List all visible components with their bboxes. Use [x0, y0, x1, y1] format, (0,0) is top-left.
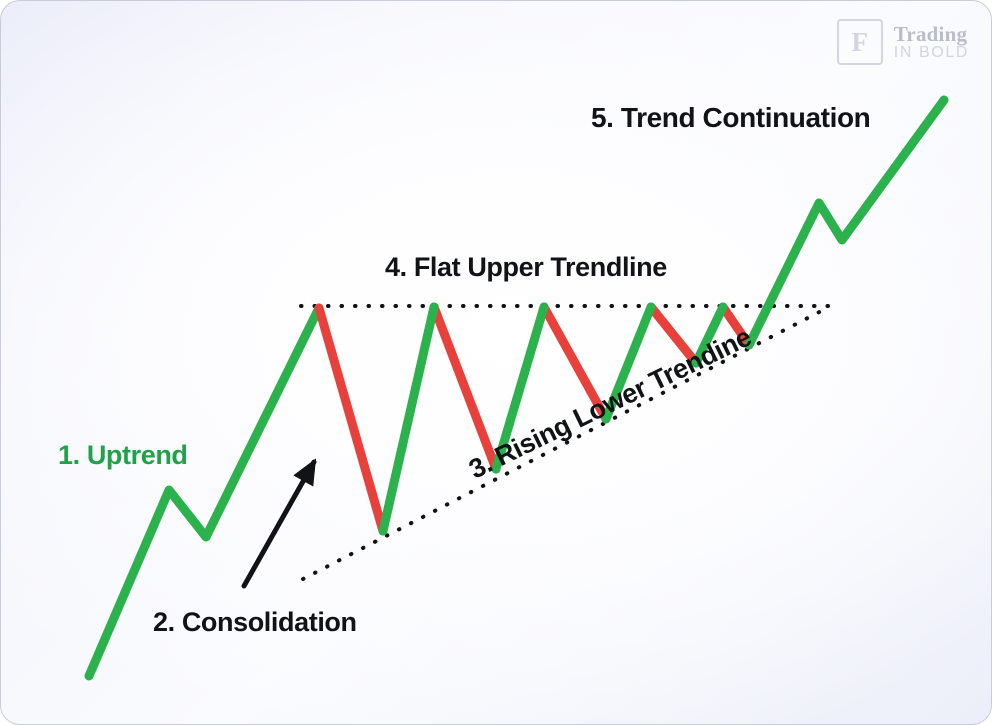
bearish-leg-1: [319, 308, 383, 531]
annotation-consolidation: 2. Consolidation: [153, 607, 357, 638]
chart-canvas: F Trading IN BOLD 1. Uptrend 2. Consolid…: [0, 0, 992, 725]
logo-wordmark-secondary: IN BOLD: [894, 45, 969, 62]
annotation-uptrend: 1. Uptrend: [58, 440, 188, 471]
brand-logo: F Trading IN BOLD: [837, 19, 969, 65]
breakout-price-path: [749, 100, 944, 345]
annotation-flat-upper-trendline: 4. Flat Upper Trendline: [385, 252, 667, 283]
logo-mark-letter: F: [852, 29, 869, 56]
logo-wordmark-primary: Trading: [894, 23, 969, 45]
bullish-leg-1: [383, 307, 434, 531]
annotation-trend-continuation: 5. Trend Continuation: [591, 102, 870, 134]
logo-wordmark: Trading IN BOLD: [894, 23, 969, 62]
bearish-leg-2: [434, 307, 496, 469]
consolidation-arrow-icon: [244, 462, 314, 586]
logo-mark-icon: F: [837, 19, 883, 65]
